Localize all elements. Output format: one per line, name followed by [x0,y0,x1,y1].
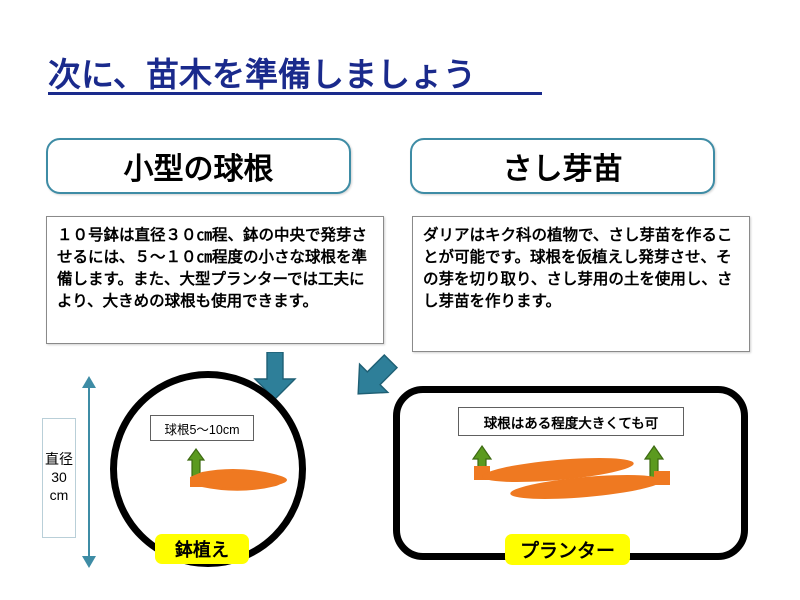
diameter-label-line-3: cm [50,487,69,505]
description-box-right: ダリアはキク科の植物で、さし芽苗を作ることが可能です。球根を仮植えし発芽させ、そ… [412,216,750,352]
heading-pill-right-label: さし芽苗 [503,144,623,188]
diameter-label-line-1: 直径 [45,451,73,469]
diagonal-arrow-icon [345,352,401,406]
badge-pot-label: 鉢植え [175,536,229,562]
planter-bulb-note-label: 球根はある程度大きくても可 [458,407,684,436]
slide-canvas: 次に、苗木を準備しましょう 小型の球根 さし芽苗 １０号鉢は直径３０㎝程、鉢の中… [0,0,800,600]
tuber-with-sprout-left [182,447,302,499]
heading-pill-right: さし芽苗 [410,138,715,194]
tubers-with-sprouts-right [468,444,678,510]
badge-planter: プランター [505,534,630,565]
badge-planter-label: プランター [520,536,615,563]
heading-pill-left: 小型の球根 [46,138,351,194]
diameter-label-box: 直径 30 cm [42,418,76,538]
description-box-left: １０号鉢は直径３０㎝程、鉢の中央で発芽させるには、５〜１０㎝程度の小さな球根を準… [46,216,384,344]
badge-pot: 鉢植え [155,534,249,564]
diameter-caliper-arrow-icon [80,376,98,568]
bulb-size-label: 球根5〜10cm [150,415,254,441]
page-title: 次に、苗木を準備しましょう [48,48,476,96]
diameter-label-line-2: 30 [51,469,67,487]
page-title-underline [48,92,542,95]
heading-pill-left-label: 小型の球根 [124,144,274,188]
